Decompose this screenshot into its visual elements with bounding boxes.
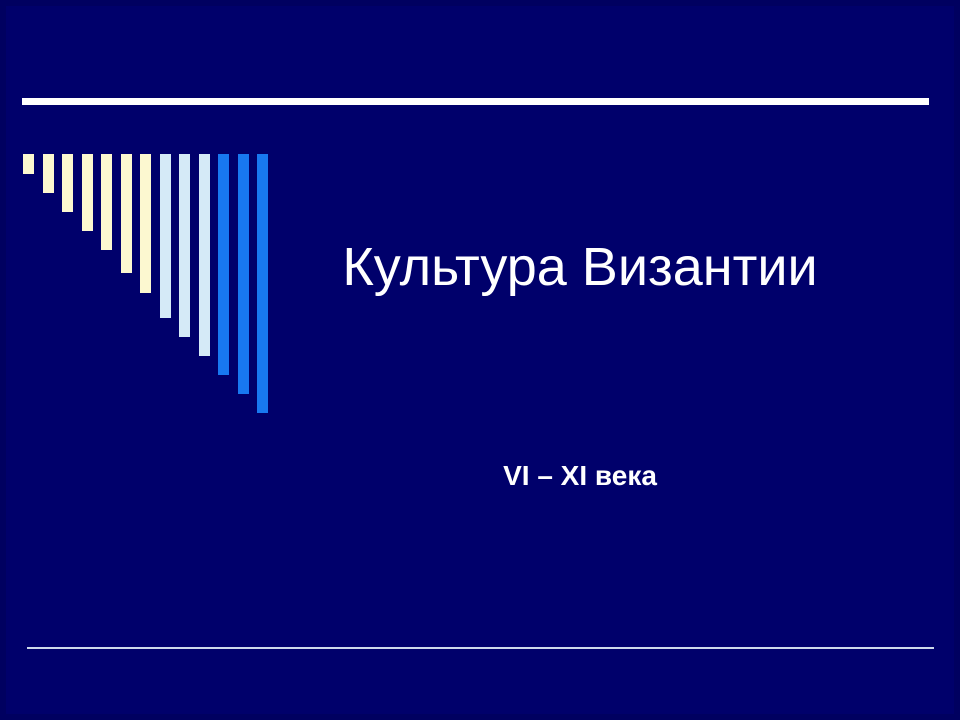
page-subtitle: VI – XI века: [300, 459, 860, 493]
motif-bar: [121, 154, 132, 273]
motif-bar: [101, 154, 112, 250]
motif-bar: [179, 154, 190, 337]
presentation-slide: Культура Византии VI – XI века: [0, 0, 960, 720]
motif-bar: [82, 154, 93, 231]
motif-bar: [140, 154, 151, 293]
descending-bars-motif: [0, 0, 300, 440]
motif-bar: [199, 154, 210, 356]
page-title: Культура Византии: [300, 236, 860, 298]
motif-bar: [160, 154, 171, 318]
motif-bar: [23, 154, 34, 174]
motif-bar: [43, 154, 54, 193]
title-block: Культура Византии: [300, 236, 860, 298]
bottom-divider-rule: [27, 647, 934, 649]
motif-bar: [218, 154, 229, 375]
motif-bar: [62, 154, 73, 212]
motif-bar: [238, 154, 249, 394]
subtitle-block: VI – XI века: [300, 459, 860, 493]
motif-bar: [257, 154, 268, 413]
